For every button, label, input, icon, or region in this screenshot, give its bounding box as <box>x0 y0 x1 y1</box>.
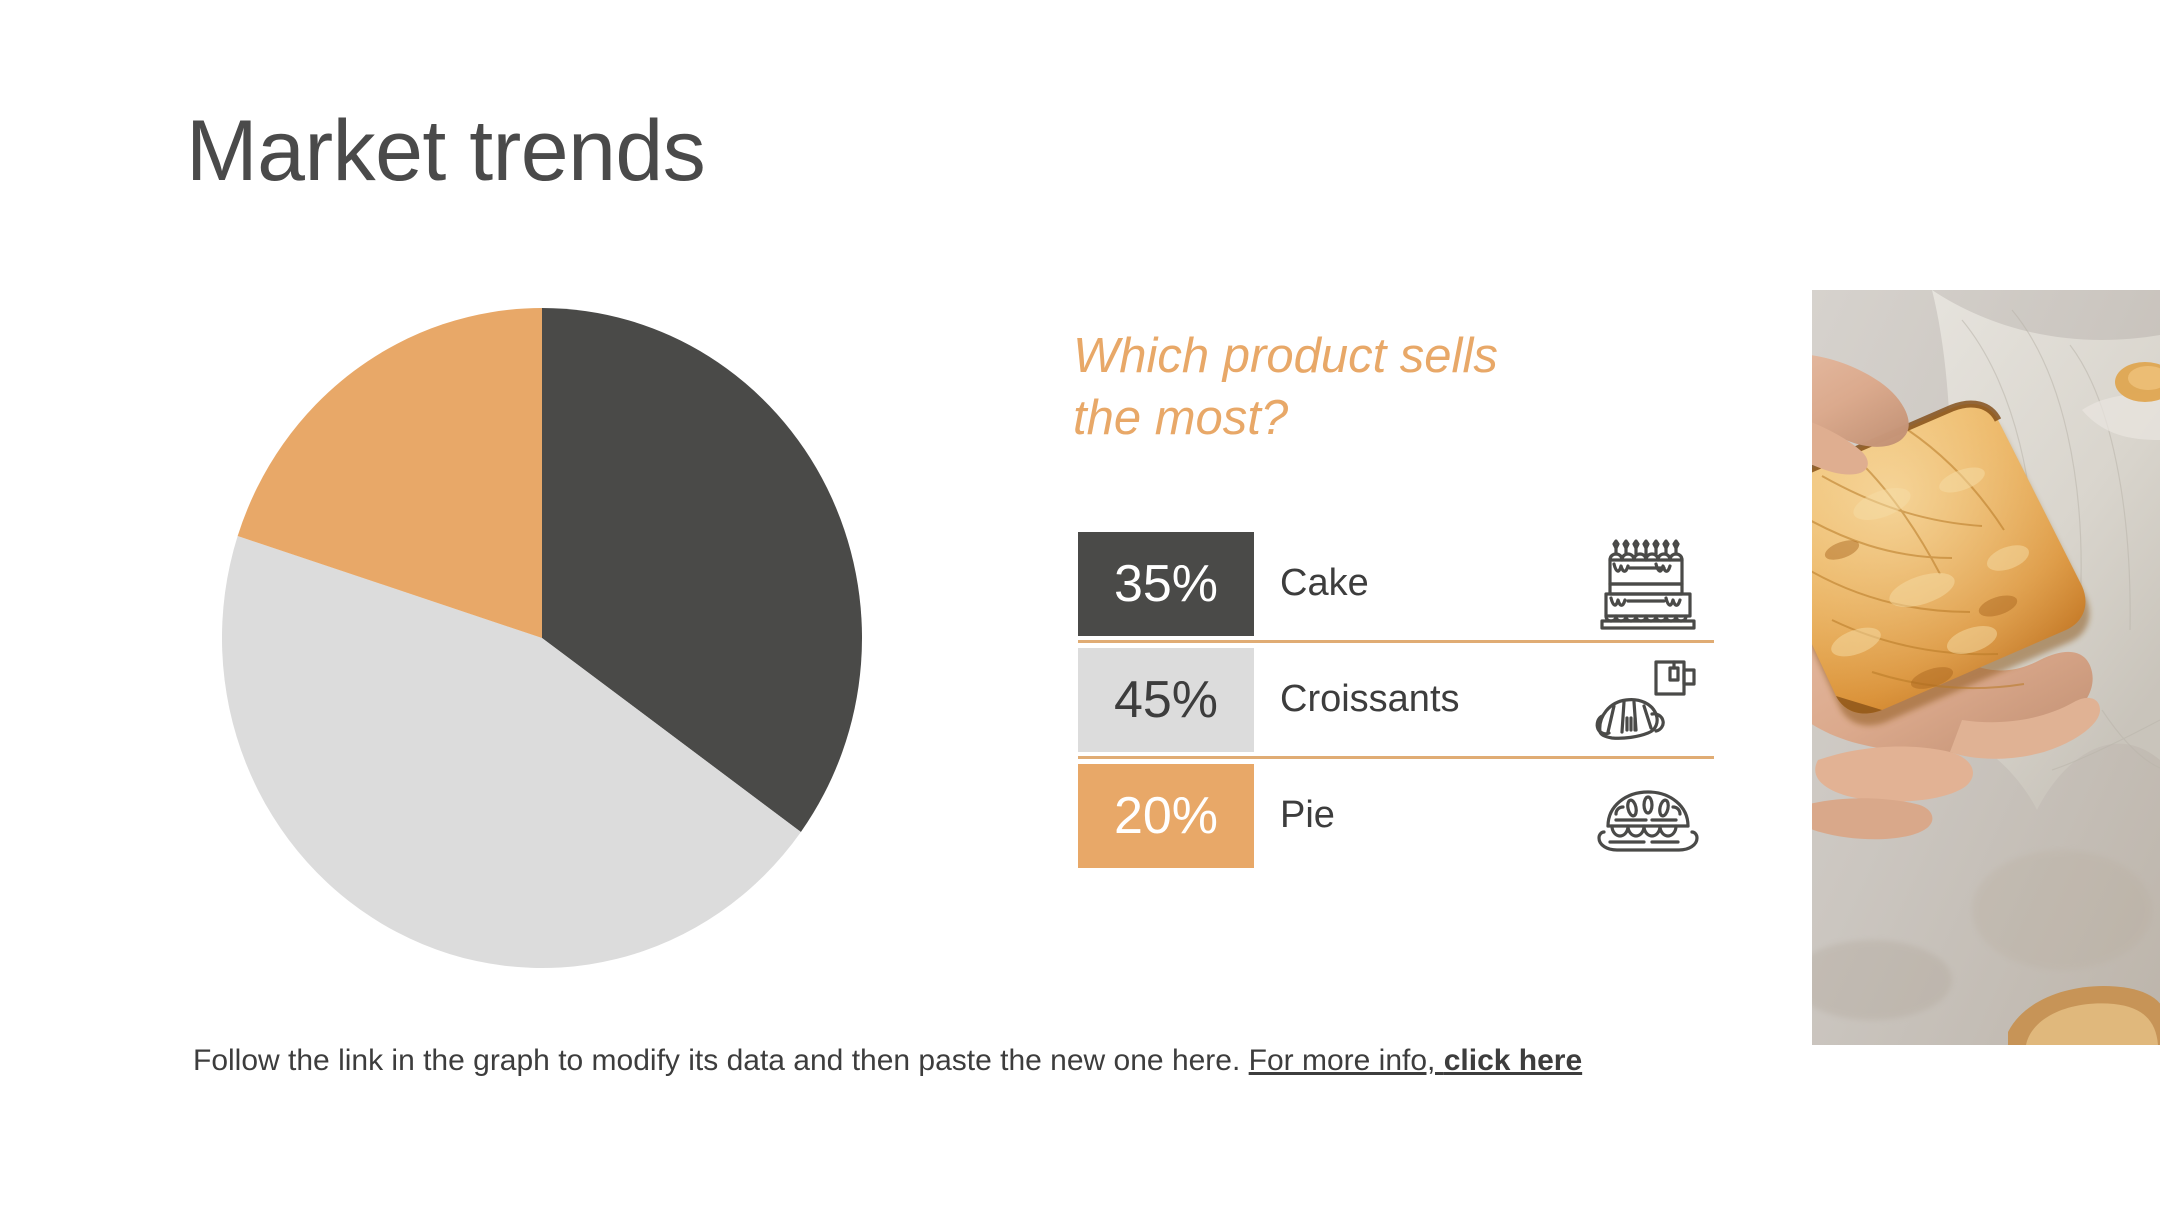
stat-label-pie: Pie <box>1280 794 1582 837</box>
pie-chart[interactable] <box>212 294 872 982</box>
stat-row-pie[interactable]: 20% Pie <box>1078 759 1714 872</box>
stat-row-cake[interactable]: 35% Cake <box>1078 527 1714 640</box>
stat-badge-pie: 20% <box>1078 764 1254 868</box>
question-text: Which product sells the most? <box>1073 326 1543 449</box>
stat-value-pie: 20% <box>1114 790 1218 842</box>
stat-badge-croissants: 45% <box>1078 648 1254 752</box>
stats-list: 35% Cake <box>1078 527 1714 872</box>
cake-icon <box>1582 532 1714 636</box>
link-strong: click here <box>1444 1044 1582 1077</box>
page-title: Market trends <box>186 106 705 196</box>
footer-note: Follow the link in the graph to modify i… <box>193 1044 1582 1078</box>
more-info-link[interactable]: For more info, click here <box>1249 1044 1583 1077</box>
pie-icon <box>1582 764 1714 868</box>
footer-text: Follow the link in the graph to modify i… <box>193 1044 1249 1077</box>
stat-label-cake: Cake <box>1280 562 1582 605</box>
slide: Market trends Which product sells the mo… <box>0 0 2160 1215</box>
link-prefix: For more info, <box>1249 1044 1444 1077</box>
stat-row-croissants[interactable]: 45% Croissants <box>1078 643 1714 756</box>
pastry-photo <box>1812 290 2160 1045</box>
stat-value-croissants: 45% <box>1114 674 1218 726</box>
croissant-coffee-icon <box>1582 648 1714 752</box>
stat-label-croissants: Croissants <box>1280 678 1582 721</box>
stat-badge-cake: 35% <box>1078 532 1254 636</box>
stat-value-cake: 35% <box>1114 558 1218 610</box>
